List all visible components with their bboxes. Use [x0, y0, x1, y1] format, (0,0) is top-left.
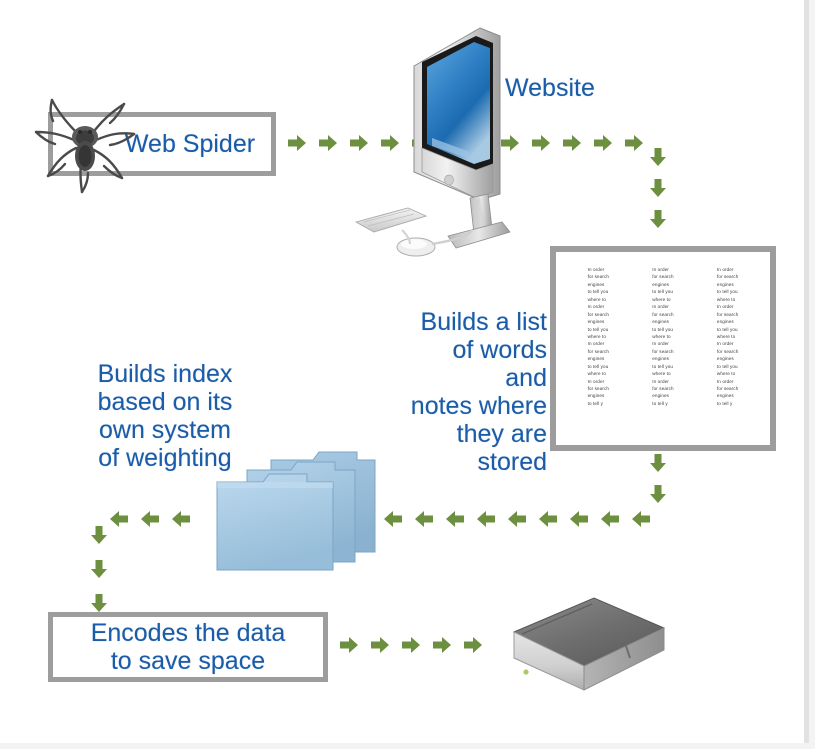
- arrow-left-icon: [170, 508, 192, 530]
- encode-box: Encodes the data to save space: [48, 612, 328, 682]
- arrow-left-icon: [444, 508, 466, 530]
- arrow-left-icon: [139, 508, 161, 530]
- arrow-down-icon: [647, 146, 669, 168]
- word-list-column: In order for search engines to tell you …: [652, 266, 673, 433]
- arrow-left-icon: [568, 508, 590, 530]
- word-list-label: Builds a list of words and notes where t…: [405, 308, 547, 476]
- website-label: Website: [505, 74, 595, 102]
- arrow-right-icon: [592, 132, 614, 154]
- arrow-right-icon: [623, 132, 645, 154]
- diagram-canvas: Web Spider: [0, 0, 815, 749]
- arrow-right-icon: [286, 132, 308, 154]
- arrow-down-icon: [647, 177, 669, 199]
- arrow-down-icon: [647, 208, 669, 230]
- arrow-left-icon: [630, 508, 652, 530]
- index-label: Builds index based on its own system of …: [85, 360, 245, 472]
- arrow-right-icon: [317, 132, 339, 154]
- arrow-right-icon: [338, 634, 360, 656]
- arrow-right-icon: [530, 132, 552, 154]
- word-list-column: In order for search engines to tell you …: [588, 266, 609, 433]
- hard-drive-icon: [478, 586, 668, 706]
- arrow-right-icon: [369, 634, 391, 656]
- encode-label: Encodes the data to save space: [91, 619, 286, 675]
- spider-icon: [30, 88, 140, 198]
- arrow-left-icon: [506, 508, 528, 530]
- arrow-left-icon: [537, 508, 559, 530]
- arrow-down-icon: [647, 483, 669, 505]
- word-list-column: In order for search engines to tell you …: [717, 266, 738, 433]
- web-spider-label: Web Spider: [125, 130, 255, 158]
- arrow-down-icon: [647, 452, 669, 474]
- arrow-right-icon: [561, 132, 583, 154]
- arrow-down-icon: [88, 592, 110, 614]
- arrow-left-icon: [413, 508, 435, 530]
- arrow-left-icon: [108, 508, 130, 530]
- arrow-down-icon: [88, 524, 110, 546]
- arrow-down-icon: [88, 558, 110, 580]
- word-list-document-icon: In order for search engines to tell you …: [550, 246, 776, 451]
- arrow-right-icon: [400, 634, 422, 656]
- arrow-left-icon: [475, 508, 497, 530]
- arrow-left-icon: [599, 508, 621, 530]
- arrow-right-icon: [431, 634, 453, 656]
- imac-computer-icon: [352, 22, 532, 262]
